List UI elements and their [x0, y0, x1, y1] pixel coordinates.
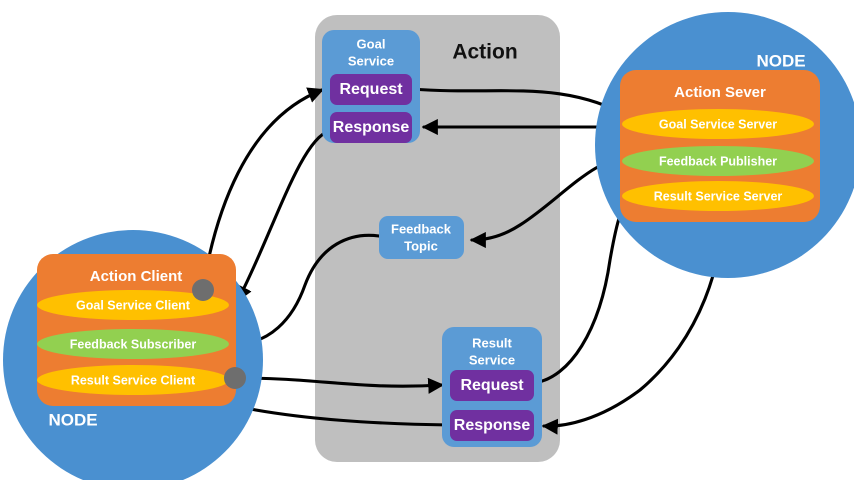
result-service-title-line1: Result	[472, 335, 512, 350]
diagram-canvas: Action NODE Action Client	[0, 0, 854, 480]
feedback-topic-line1: Feedback	[391, 221, 452, 236]
client-node[interactable]: NODE Action Client Goal Service Client F…	[3, 230, 263, 480]
pill-label: Result Service Server	[654, 189, 783, 203]
result-client-connection-dot-icon	[224, 367, 246, 389]
result-service-box[interactable]: Result Service Request Response	[442, 327, 542, 447]
goal-client-connection-dot-icon	[192, 279, 214, 301]
request-label: Request	[460, 377, 524, 394]
action-server-title: Action Sever	[674, 84, 766, 101]
pill-label: Goal Service Client	[76, 298, 191, 312]
result-service-title-line2: Service	[469, 352, 515, 367]
response-label: Response	[454, 417, 531, 434]
pill-feedback-subscriber[interactable]: Feedback Subscriber	[37, 329, 229, 359]
pill-result-service-client[interactable]: Result Service Client	[37, 365, 229, 395]
server-node[interactable]: NODE Action Sever Goal Service Server Fe…	[595, 12, 854, 278]
goal-service-response[interactable]: Response	[330, 112, 412, 143]
pill-label: Feedback Publisher	[659, 154, 777, 168]
ros2-action-diagram: Action NODE Action Client	[0, 0, 854, 480]
pill-label: Feedback Subscriber	[70, 337, 197, 351]
pill-label: Goal Service Server	[659, 117, 777, 131]
client-node-label: NODE	[48, 410, 97, 429]
action-server-group[interactable]: Action Sever Goal Service Server Feedbac…	[620, 70, 820, 222]
pill-goal-service-server[interactable]: Goal Service Server	[622, 109, 814, 139]
pill-result-service-server[interactable]: Result Service Server	[622, 181, 814, 211]
pill-feedback-publisher[interactable]: Feedback Publisher	[622, 146, 814, 176]
goal-service-request[interactable]: Request	[330, 74, 412, 105]
feedback-topic-box[interactable]: Feedback Topic	[379, 216, 464, 259]
action-client-title: Action Client	[90, 268, 183, 285]
result-service-response[interactable]: Response	[450, 410, 534, 441]
action-panel-title: Action	[452, 41, 517, 64]
goal-service-title-line1: Goal	[357, 36, 386, 51]
request-label: Request	[339, 81, 403, 98]
response-label: Response	[333, 119, 410, 136]
action-client-group[interactable]: Action Client Goal Service Client Feedba…	[37, 254, 236, 406]
server-node-label: NODE	[756, 51, 805, 70]
pill-label: Result Service Client	[71, 373, 196, 387]
feedback-topic-line2: Topic	[404, 238, 438, 253]
goal-service-box[interactable]: Goal Service Request Response	[322, 30, 420, 143]
result-service-request[interactable]: Request	[450, 370, 534, 401]
goal-service-title-line2: Service	[348, 53, 394, 68]
